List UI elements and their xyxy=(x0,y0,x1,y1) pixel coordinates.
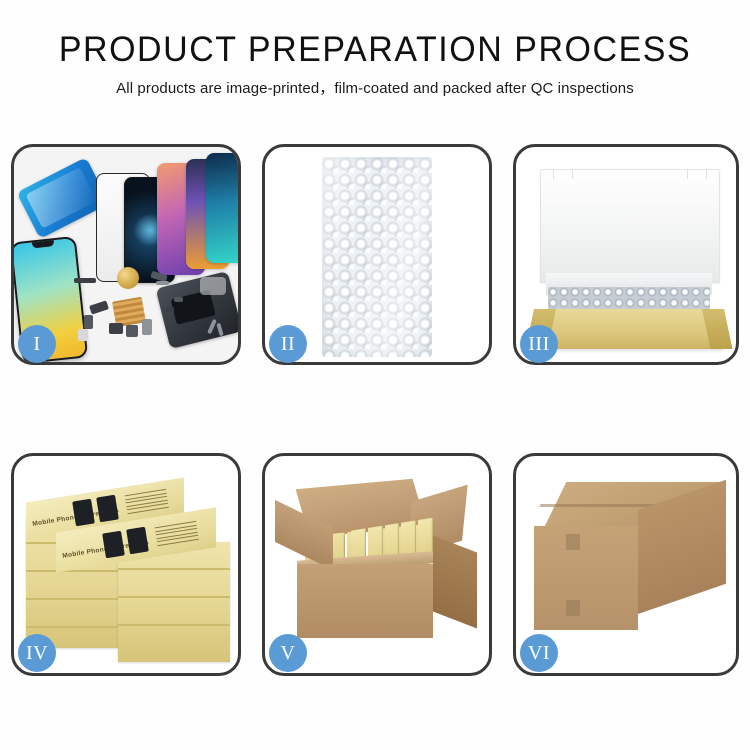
box-seam-4 xyxy=(26,626,122,628)
carton-side-face xyxy=(433,536,477,629)
box-label-phone-1a xyxy=(72,499,95,527)
part-camera xyxy=(84,315,93,329)
plastic-sheen xyxy=(322,157,432,357)
part-small-a xyxy=(166,307,174,313)
step-badge-2: II xyxy=(269,325,307,363)
kraft-tray xyxy=(534,309,724,349)
step-badge-4: IV xyxy=(18,634,56,672)
box-seam-7 xyxy=(118,624,230,626)
speaker-module xyxy=(117,267,139,289)
carton-tab-bottom xyxy=(566,600,580,616)
carton-front-face xyxy=(297,564,433,638)
page-title: PRODUCT PREPARATION PROCESS xyxy=(11,30,739,70)
part-strip xyxy=(74,278,96,283)
page-header: PRODUCT PREPARATION PROCESS All products… xyxy=(0,0,750,99)
box-seam-3 xyxy=(26,598,122,600)
part-small-b xyxy=(174,297,183,302)
box-label-phone-2a xyxy=(102,531,125,559)
box-seam-6 xyxy=(118,596,230,598)
carton-tab-top xyxy=(566,534,580,550)
step-badge-3: III xyxy=(520,325,558,363)
process-steps-grid: Mobile Phone Spare Parts Mobile Phone Sp… xyxy=(11,144,739,676)
phone-screen-teal xyxy=(206,153,241,263)
part-sim-tray xyxy=(78,329,88,341)
step-badge-6: VI xyxy=(520,634,558,672)
step-badge-1: I xyxy=(18,325,56,363)
bubble-wrap-package xyxy=(322,157,432,357)
box-label-phone-1b xyxy=(96,495,119,523)
part-button xyxy=(109,323,123,334)
box-seam-2 xyxy=(26,570,122,572)
lid-notch-right xyxy=(687,170,707,179)
sealed-shipping-carton xyxy=(534,482,726,650)
step-badge-5: V xyxy=(269,634,307,672)
part-flex-b xyxy=(156,281,169,285)
open-shipping-carton xyxy=(275,480,481,652)
carton-front-face xyxy=(534,526,638,630)
open-inner-box xyxy=(534,169,724,339)
part-battery-connector xyxy=(142,319,152,335)
part-flex-c xyxy=(89,300,109,314)
lid-notch-left xyxy=(553,170,573,179)
box-seam-5 xyxy=(118,568,230,570)
stacked-retail-boxes: Mobile Phone Spare Parts Mobile Phone Sp… xyxy=(22,474,236,664)
tray-right-end xyxy=(702,309,733,349)
box-lid xyxy=(540,169,720,283)
page-subtitle: All products are image-printed，film-coat… xyxy=(0,79,750,99)
box-label-phone-2b xyxy=(126,527,149,555)
part-tool xyxy=(200,277,226,295)
part-vibrator xyxy=(126,325,138,337)
